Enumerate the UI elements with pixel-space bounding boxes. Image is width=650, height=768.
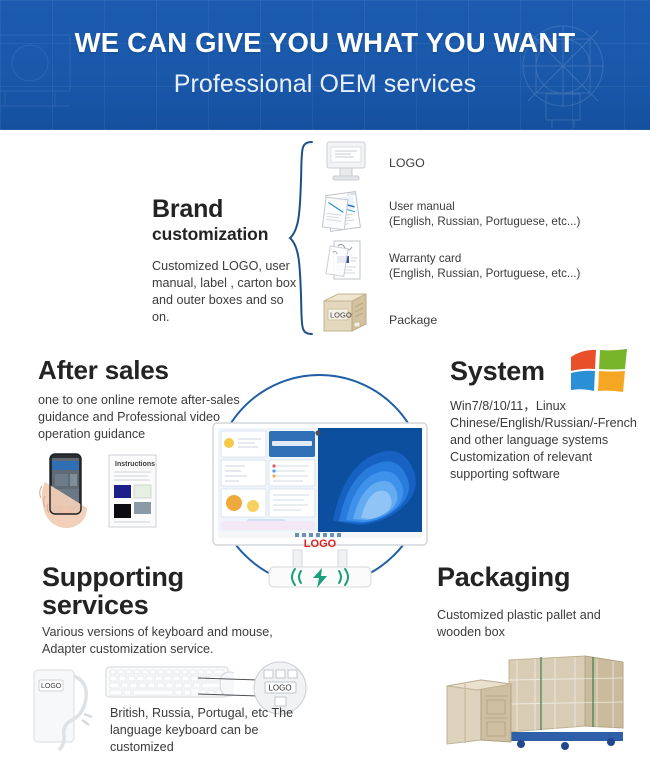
brand-item-label-3: Package [389,312,437,328]
instructions-title: Instructions [115,461,155,468]
power-adapter-icon: LOGO [26,662,100,760]
keyboard-note: British, Russia, Portugal, etc The langu… [110,705,310,756]
infographic-page: WE CAN GIVE YOU WHAT YOU WANT Profession… [0,0,650,768]
callout-logo-text: LOGO [268,684,291,693]
phone-video-call-icon [33,452,99,534]
warranty-card-icon [322,238,372,282]
brand-description: Customized LOGO, user manual, label , ca… [152,258,302,326]
header-banner: WE CAN GIVE YOU WHAT YOU WANT Profession… [0,0,650,130]
manual-icon: LOGO [320,189,372,233]
brand-item-label-0: LOGO [389,155,425,171]
bezel-logo-text: LOGO [304,538,337,550]
instructions-sheet-icon: Instructions [104,452,162,530]
supporting-description: Various versions of keyboard and mouse, … [42,624,302,658]
supporting-heading-line1: Supporting [42,563,257,591]
supporting-heading-block: Supporting services [42,563,257,619]
brand-heading-block: Brand customization [152,196,302,244]
supporting-heading-line2: services [42,591,257,619]
brand-item-label-2: Warranty card [389,251,461,266]
header-text-block: WE CAN GIVE YOU WHAT YOU WANT Profession… [0,0,650,99]
brand-item-sub-2: (English, Russian, Portuguese, etc...) [389,266,580,281]
pallet-packaging-illustration [437,648,637,760]
brand-heading-line2: customization [152,225,302,244]
carton-box-icon: LOGO [318,289,374,335]
system-description: Win7/8/10/11，Linux Chinese/English/Russi… [450,398,645,483]
brand-heading-line1: Brand [152,196,302,222]
windows-logo-icon [567,347,631,397]
header-subtitle: Professional OEM services [0,70,650,99]
box-logo-text: LOGO [330,311,352,320]
brand-item-sub-1: (English, Russian, Portuguese, etc...) [389,214,580,229]
after-sales-heading: After sales [38,357,248,384]
header-title: WE CAN GIVE YOU WHAT YOU WANT [0,27,650,59]
monitor-icon [321,140,371,184]
packaging-description: Customized plastic pallet and wooden box [437,607,637,641]
brand-item-label-1: User manual [389,199,455,214]
brace-bracket-icon [288,140,314,336]
packaging-heading: Packaging [437,563,647,591]
adapter-logo-text: LOGO [41,683,62,690]
